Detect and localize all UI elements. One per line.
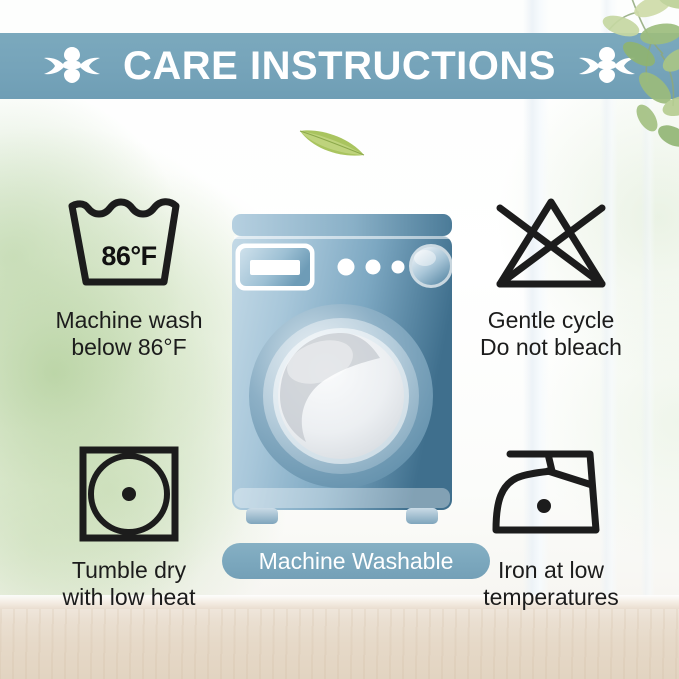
care-symbol-iron: Iron at low temperatures: [436, 444, 666, 611]
care-instructions-infographic: CARE INSTRUCTIONS: [0, 0, 679, 679]
care-symbol-label: Machine wash below 86°F: [55, 307, 202, 361]
page-title: CARE INSTRUCTIONS: [123, 46, 556, 86]
care-symbol-label: Iron at low temperatures: [483, 557, 619, 611]
care-symbol-label: Tumble dry with low heat: [63, 557, 196, 611]
tumble-dry-low-icon: [74, 444, 184, 549]
header-banner: CARE INSTRUCTIONS: [0, 33, 679, 99]
wash-tub-icon: 86°F: [64, 194, 194, 299]
no-bleach-triangle-icon: [486, 194, 616, 299]
care-symbol-label: Gentle cycle Do not bleach: [480, 307, 622, 361]
fleur-de-lis-icon: [578, 43, 636, 89]
care-symbol-machine-wash: 86°F Machine wash below 86°F: [14, 194, 244, 361]
care-symbol-do-not-bleach: Gentle cycle Do not bleach: [436, 194, 666, 361]
badge-label: Machine Washable: [259, 550, 454, 573]
wash-temperature-value: 86°F: [64, 241, 194, 272]
iron-low-temp-icon: [486, 444, 616, 549]
wooden-table-surface: [0, 609, 679, 679]
fleur-de-lis-icon: [43, 43, 101, 89]
washing-machine-illustration: [228, 210, 456, 532]
care-symbol-tumble-dry: Tumble dry with low heat: [14, 444, 244, 611]
